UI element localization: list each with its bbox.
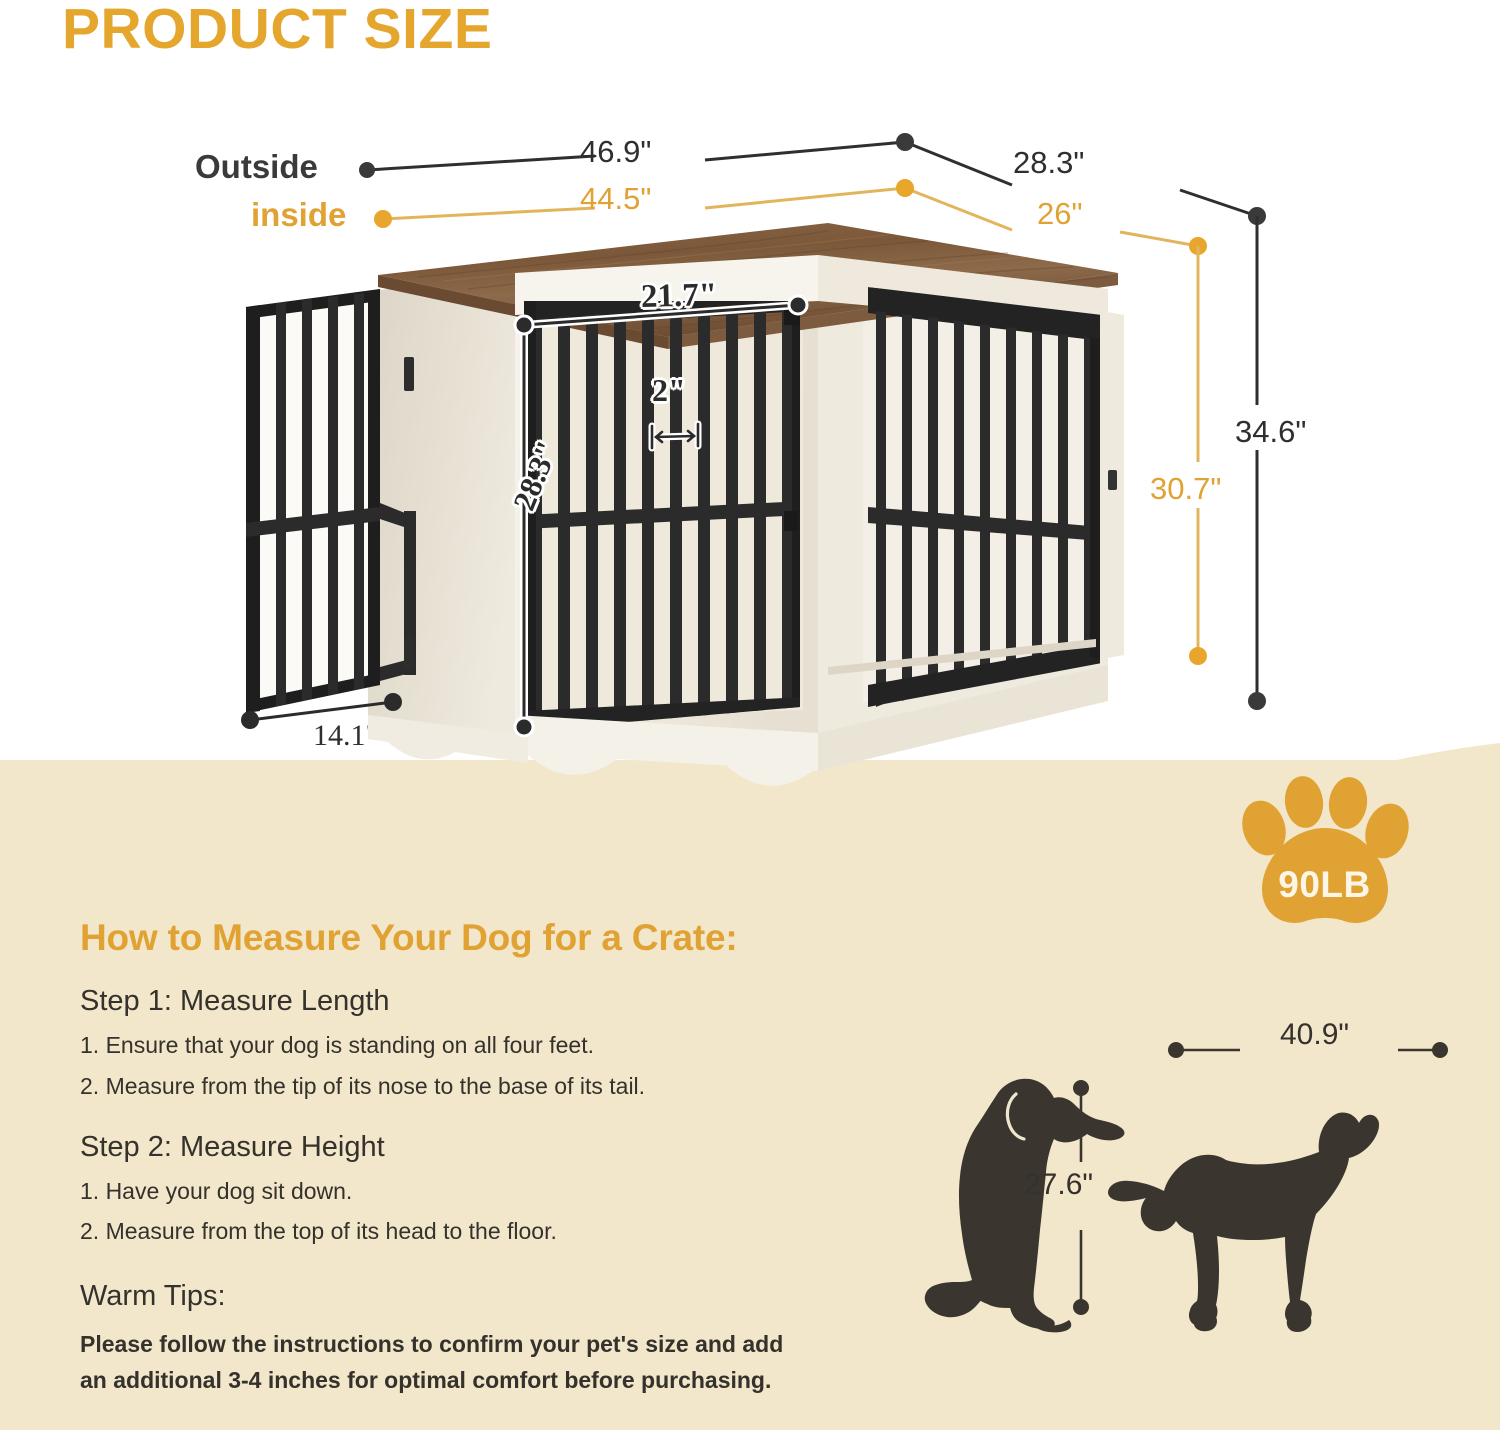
dog-crate-illustration bbox=[228, 215, 1348, 815]
sitting-dog-silhouette bbox=[925, 1079, 1125, 1333]
paw-icon bbox=[1232, 776, 1417, 936]
warm-tips-line2: an additional 3-4 inches for optimal com… bbox=[80, 1363, 870, 1399]
dimension-outside-depth: 28.3" bbox=[1013, 145, 1084, 181]
warm-tips-heading: Warm Tips: bbox=[80, 1280, 870, 1313]
step2-line2: 2. Measure from the top of its head to t… bbox=[80, 1217, 870, 1246]
warm-tips-line1: Please follow the instructions to confir… bbox=[80, 1327, 870, 1363]
weight-capacity-badge: 90LB bbox=[1232, 776, 1417, 936]
dimension-inside-width: 44.5" bbox=[580, 181, 651, 217]
step2-line1: 1. Have your dog sit down. bbox=[80, 1177, 870, 1206]
step1-heading: Step 1: Measure Length bbox=[80, 985, 870, 1018]
dimension-outside-width: 46.9" bbox=[580, 134, 651, 170]
dog-standing-length-label: 40.9" bbox=[1280, 1018, 1349, 1052]
step1-line2: 2. Measure from the tip of its nose to t… bbox=[80, 1072, 870, 1101]
weight-capacity-label: 90LB bbox=[1232, 864, 1417, 906]
how-to-measure-section: How to Measure Your Dog for a Crate: Ste… bbox=[80, 917, 870, 1398]
step1-line1: 1. Ensure that your dog is standing on a… bbox=[80, 1031, 870, 1060]
infographic-root: PRODUCT SIZE Outside inside bbox=[0, 0, 1500, 1430]
how-to-title: How to Measure Your Dog for a Crate: bbox=[80, 917, 870, 959]
step2-heading: Step 2: Measure Height bbox=[80, 1131, 870, 1164]
dog-silhouettes bbox=[828, 1020, 1488, 1350]
standing-dog-silhouette bbox=[1108, 1113, 1379, 1333]
dog-sitting-height-label: 27.6" bbox=[1024, 1168, 1093, 1202]
page-title: PRODUCT SIZE bbox=[62, 0, 492, 62]
dimension-bar-spacing: 2" bbox=[652, 372, 686, 409]
dimension-door-opening-width: 21.7" bbox=[641, 277, 718, 316]
